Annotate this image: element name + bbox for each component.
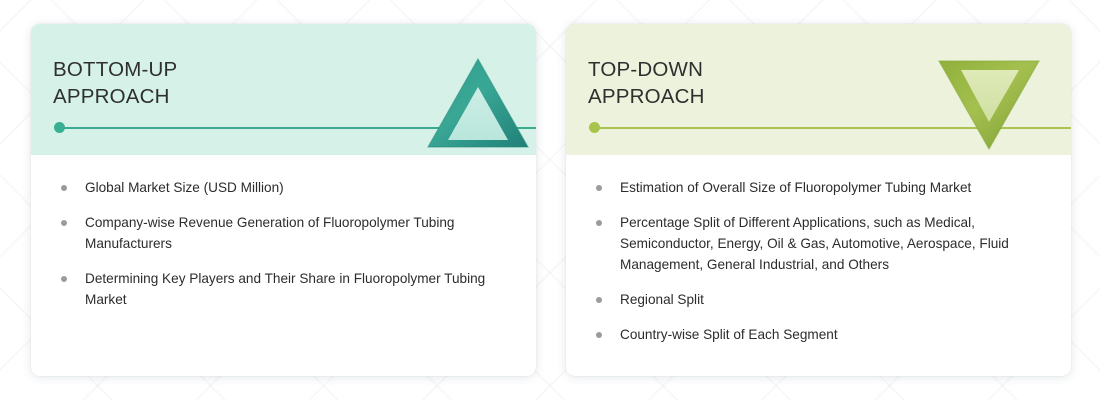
- list-item: Country-wise Split of Each Segment: [592, 324, 1045, 345]
- card-title-top-down: TOP-DOWN APPROACH: [588, 56, 705, 110]
- bullet-list-top-down: Estimation of Overall Size of Fluoropoly…: [566, 155, 1071, 345]
- bullet-list-bottom-up: Global Market Size (USD Million) Company…: [31, 155, 536, 310]
- list-item-text: Determining Key Players and Their Share …: [85, 271, 485, 307]
- list-item-text: Country-wise Split of Each Segment: [620, 327, 838, 342]
- list-item: Percentage Split of Different Applicatio…: [592, 212, 1045, 275]
- card-top-down: TOP-DOWN APPROACH: [566, 24, 1071, 376]
- approach-comparison-panel: BOTTOM-UP APPROACH: [0, 0, 1100, 400]
- card-header-top-down: TOP-DOWN APPROACH: [566, 24, 1071, 155]
- card-bottom-up: BOTTOM-UP APPROACH: [31, 24, 536, 376]
- triangle-up-icon: [424, 47, 532, 155]
- list-item: Regional Split: [592, 289, 1045, 310]
- list-item: Estimation of Overall Size of Fluoropoly…: [592, 177, 1045, 198]
- bullet-icon: [596, 220, 602, 226]
- triangle-down-icon: [935, 47, 1043, 155]
- list-item: Company-wise Revenue Generation of Fluor…: [57, 212, 510, 254]
- bullet-icon: [61, 276, 67, 282]
- bullet-icon: [596, 297, 602, 303]
- list-item-text: Company-wise Revenue Generation of Fluor…: [85, 215, 455, 251]
- list-item-text: Global Market Size (USD Million): [85, 180, 284, 195]
- card-header-bottom-up: BOTTOM-UP APPROACH: [31, 24, 536, 155]
- list-item-text: Regional Split: [620, 292, 704, 307]
- list-item: Determining Key Players and Their Share …: [57, 268, 510, 310]
- bullet-icon: [596, 332, 602, 338]
- bullet-icon: [596, 185, 602, 191]
- list-item-text: Estimation of Overall Size of Fluoropoly…: [620, 180, 971, 195]
- bullet-icon: [61, 185, 67, 191]
- bullet-icon: [61, 220, 67, 226]
- list-item: Global Market Size (USD Million): [57, 177, 510, 198]
- card-title-bottom-up: BOTTOM-UP APPROACH: [53, 56, 177, 110]
- list-item-text: Percentage Split of Different Applicatio…: [620, 215, 1009, 272]
